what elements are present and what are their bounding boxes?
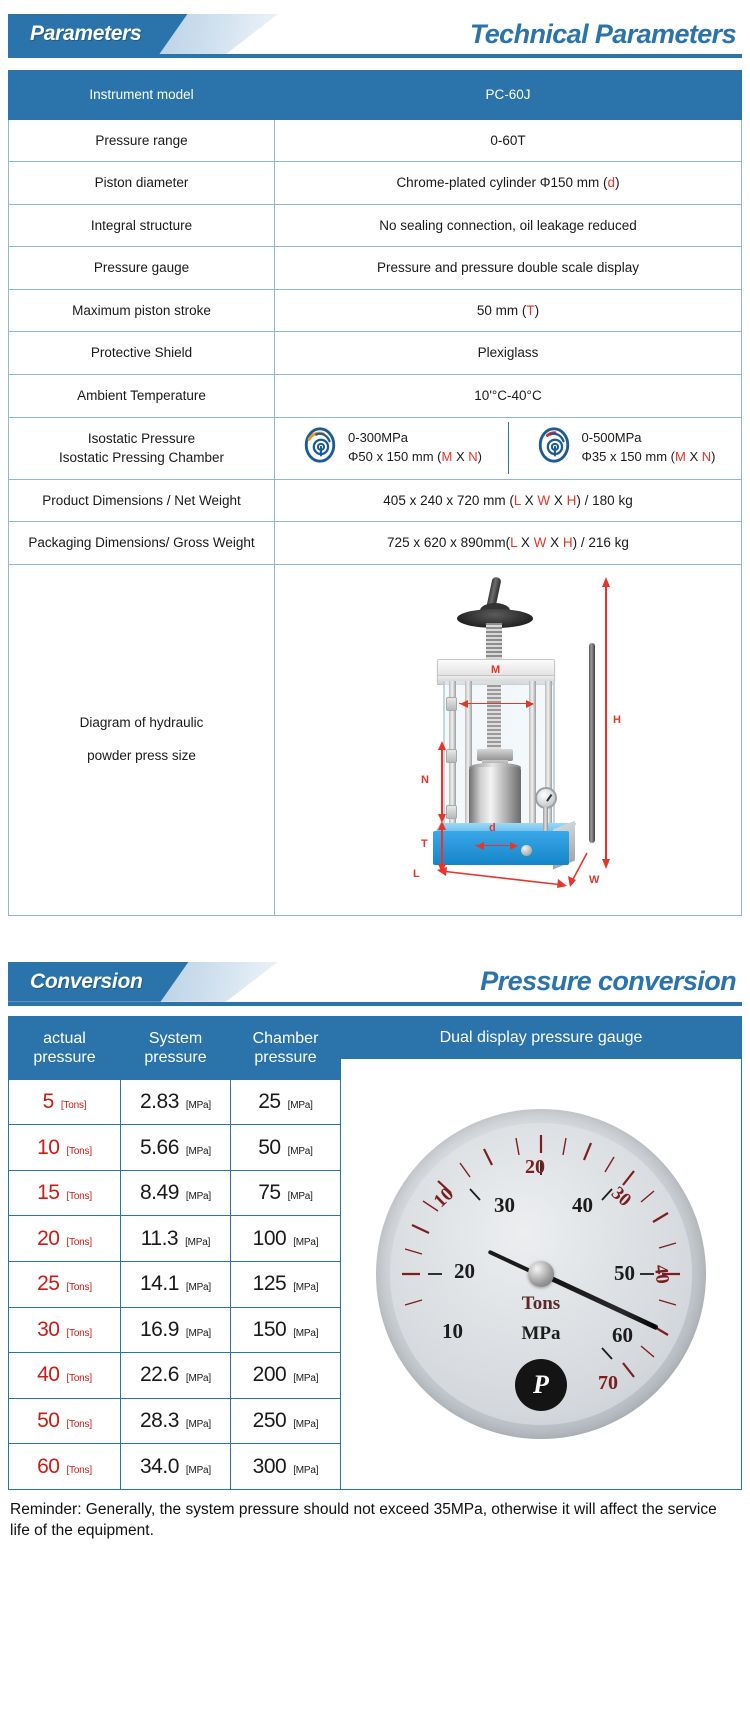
- isostatic-300-dim-m: M: [441, 449, 452, 464]
- spec-value-maximum-piston-stroke: 50 mm (T): [275, 289, 742, 332]
- gauge-mpa-50: 50: [614, 1261, 635, 1286]
- unit-mpa: [MPa]: [186, 1191, 211, 1202]
- cell-actual-pressure: 50[Tons]: [9, 1398, 121, 1444]
- unit-mpa: [MPa]: [293, 1465, 318, 1476]
- cell-chamber-pressure: 125[MPa]: [231, 1262, 341, 1308]
- value-chamber-pressure: 300: [253, 1455, 287, 1479]
- press-pressure-gauge: [535, 787, 557, 809]
- unit-tons: [Tons]: [66, 1465, 91, 1476]
- product-dims-x2: X: [550, 493, 567, 508]
- isostatic-300-dims-post: ): [478, 449, 482, 464]
- table-row-diagram: Diagram of hydraulic powder press size: [9, 564, 742, 915]
- spec-sheet-page: Parameters Technical Parameters Instrume…: [0, 14, 750, 1556]
- cell-chamber-pressure: 75[MPa]: [231, 1170, 341, 1216]
- isostatic-option-300mpa: 0-300MPa Φ50 x 150 mm (M X N): [275, 422, 508, 474]
- column-header-dual-display-gauge: Dual display pressure gauge: [341, 1017, 741, 1059]
- value-system-pressure: 16.9: [140, 1318, 179, 1342]
- spec-value-pressure-range: 0-60T: [275, 119, 742, 162]
- value-actual-pressure: 30: [37, 1318, 59, 1342]
- gauge-tons-20: 20: [525, 1155, 545, 1179]
- stroke-text-end: ): [535, 303, 540, 318]
- table-row-ambient-temperature: Ambient Temperature 10'°C-40°C: [9, 374, 742, 417]
- value-system-pressure: 14.1: [140, 1272, 179, 1296]
- cell-chamber-pressure: 300[MPa]: [231, 1444, 341, 1490]
- hydraulic-press-illustration: M: [403, 573, 613, 909]
- cell-system-pressure: 16.9[MPa]: [121, 1307, 231, 1353]
- hydraulic-press-diagram: M: [275, 565, 741, 915]
- diagram-label-line1: Diagram of hydraulic: [15, 707, 268, 739]
- isostatic-500-dim-m: M: [675, 449, 686, 464]
- cell-system-pressure: 2.83[MPa]: [121, 1079, 231, 1125]
- spec-label-instrument-model: Instrument model: [9, 71, 275, 120]
- cell-actual-pressure: 30[Tons]: [9, 1307, 121, 1353]
- unit-mpa: [MPa]: [186, 1146, 211, 1157]
- unit-mpa: [MPa]: [186, 1373, 211, 1384]
- packaging-dim-w: W: [534, 535, 547, 550]
- spec-value-ambient-temperature: 10'°C-40°C: [275, 374, 742, 417]
- packaging-dim-h: H: [563, 535, 573, 550]
- technical-parameters-table: Instrument model PC-60J Pressure range 0…: [8, 70, 742, 916]
- conversion-banner-title: Pressure conversion: [480, 962, 736, 1002]
- value-chamber-pressure: 100: [253, 1227, 287, 1251]
- cell-actual-pressure: 40[Tons]: [9, 1353, 121, 1399]
- value-actual-pressure: 20: [37, 1227, 59, 1251]
- diagram-label-line2: powder press size: [15, 740, 268, 772]
- conversion-table-header-row: actual pressure System pressure Chamber …: [9, 1016, 742, 1079]
- spec-label-diagram: Diagram of hydraulic powder press size: [9, 564, 275, 915]
- piston-diameter-symbol: d: [608, 175, 616, 190]
- column-header-system-pressure-label: System pressure: [144, 1030, 206, 1066]
- isostatic-300-dim-n: N: [468, 449, 477, 464]
- dual-display-gauge-cell: Dual display pressure gauge: [341, 1016, 742, 1489]
- spec-value-pressure-gauge: Pressure and pressure double scale displ…: [275, 247, 742, 290]
- dimension-label-n: N: [421, 773, 429, 789]
- unit-mpa: [MPa]: [186, 1465, 211, 1476]
- isostatic-300-dims-mid: X: [452, 449, 468, 464]
- gauge-mpa-10: 10: [442, 1319, 463, 1344]
- press-gauge-stem: [543, 807, 548, 831]
- unit-tons: [Tons]: [66, 1237, 91, 1248]
- conversion-banner-tag: Conversion: [8, 962, 189, 1002]
- spec-value-packaging-dimensions: 725 x 620 x 890mm(L X W X H) / 216 kg: [275, 522, 742, 565]
- cell-actual-pressure: 15[Tons]: [9, 1170, 121, 1216]
- value-system-pressure: 2.83: [140, 1090, 179, 1114]
- unit-mpa: [MPa]: [293, 1419, 318, 1430]
- value-actual-pressure: 10: [37, 1136, 59, 1160]
- value-system-pressure: 22.6: [140, 1363, 179, 1387]
- value-system-pressure: 34.0: [140, 1455, 179, 1479]
- value-system-pressure: 28.3: [140, 1409, 179, 1433]
- value-system-pressure: 5.66: [140, 1136, 179, 1160]
- packaging-dims-post: ) / 216 kg: [573, 535, 629, 550]
- isostatic-500-dims-post: ): [711, 449, 715, 464]
- table-row-pressure-range: Pressure range 0-60T: [9, 119, 742, 162]
- parameters-banner-title: Technical Parameters: [470, 14, 736, 54]
- column-header-actual-pressure: actual pressure: [9, 1016, 121, 1079]
- cell-actual-pressure: 20[Tons]: [9, 1216, 121, 1262]
- isostatic-label-line2: Isostatic Pressing Chamber: [15, 448, 268, 468]
- gauge-tons-40: 40: [648, 1264, 673, 1285]
- parameters-banner: Parameters Technical Parameters: [8, 14, 742, 58]
- gauge-mpa-40: 40: [572, 1193, 593, 1218]
- cell-system-pressure: 5.66[MPa]: [121, 1125, 231, 1171]
- value-system-pressure: 8.49: [140, 1181, 179, 1205]
- product-dim-w: W: [537, 493, 550, 508]
- table-row-maximum-piston-stroke: Maximum piston stroke 50 mm (T): [9, 289, 742, 332]
- value-actual-pressure: 15: [37, 1181, 59, 1205]
- reminder-note: Reminder: Generally, the system pressure…: [10, 1500, 740, 1542]
- unit-tons: [Tons]: [61, 1100, 86, 1111]
- isostatic-300-range: 0-300MPa: [348, 430, 408, 445]
- packaging-dims-x2: X: [546, 535, 563, 550]
- cell-actual-pressure: 25[Tons]: [9, 1262, 121, 1308]
- table-row-protective-shield: Protective Shield Plexiglass: [9, 332, 742, 375]
- spec-value-protective-shield: Plexiglass: [275, 332, 742, 375]
- gauge-needle-hub: [528, 1261, 554, 1287]
- press-vertical-rod: [589, 643, 595, 843]
- conversion-banner-tag-label: Conversion: [30, 970, 143, 994]
- spec-value-product-dimensions: 405 x 240 x 720 mm (L X W X H) / 180 kg: [275, 479, 742, 522]
- gauge-scale-label-mpa: MPa: [521, 1323, 560, 1346]
- unit-mpa: [MPa]: [293, 1373, 318, 1384]
- spec-value-piston-diameter: Chrome-plated cylinder Φ150 mm (d): [275, 162, 742, 205]
- cell-system-pressure: 22.6[MPa]: [121, 1353, 231, 1399]
- value-chamber-pressure: 125: [253, 1272, 287, 1296]
- dimension-arrow-h-heads: [598, 575, 614, 871]
- cell-chamber-pressure: 250[MPa]: [231, 1398, 341, 1444]
- isostatic-500-dims-mid: X: [686, 449, 702, 464]
- cell-actual-pressure: 60[Tons]: [9, 1444, 121, 1490]
- column-header-chamber-pressure: Chamber pressure: [231, 1016, 341, 1079]
- spec-value-instrument-model: PC-60J: [275, 71, 742, 120]
- press-screw-lower: [487, 683, 501, 755]
- value-actual-pressure: 40: [37, 1363, 59, 1387]
- isostatic-300-dims-pre: Φ50 x 150 mm (: [348, 449, 441, 464]
- spec-value-diagram: M: [275, 564, 742, 915]
- press-screw-upper: [486, 623, 502, 661]
- gauge-brand-logo: P: [515, 1359, 567, 1411]
- cell-system-pressure: 28.3[MPa]: [121, 1398, 231, 1444]
- product-dims-pre: 405 x 240 x 720 mm (: [383, 493, 514, 508]
- dual-display-pressure-gauge-image: 20 30 40 10 30 40 20 10 50 60 70: [341, 1059, 741, 1489]
- value-chamber-pressure: 200: [253, 1363, 287, 1387]
- cell-chamber-pressure: 200[MPa]: [231, 1353, 341, 1399]
- table-row-pressure-gauge: Pressure gauge Pressure and pressure dou…: [9, 247, 742, 290]
- piston-diameter-text-end: ): [615, 175, 620, 190]
- value-actual-pressure: 50: [37, 1409, 59, 1433]
- isostatic-500-dim-n: N: [702, 449, 711, 464]
- unit-tons: [Tons]: [66, 1191, 91, 1202]
- packaging-dims-x1: X: [517, 535, 534, 550]
- value-system-pressure: 11.3: [141, 1227, 178, 1251]
- pressure-gauge-icon: [535, 426, 573, 470]
- cell-actual-pressure: 5[Tons]: [9, 1079, 121, 1125]
- isostatic-label-line1: Isostatic Pressure: [15, 429, 268, 449]
- unit-mpa: [MPa]: [288, 1100, 313, 1111]
- gauge-dial: 20 30 40 10 30 40 20 10 50 60 70: [376, 1109, 706, 1439]
- value-chamber-pressure: 250: [253, 1409, 287, 1433]
- unit-mpa: [MPa]: [293, 1282, 318, 1293]
- dimension-label-t: T: [421, 837, 428, 853]
- isostatic-500-range: 0-500MPa: [582, 430, 642, 445]
- pressure-gauge-icon: [301, 426, 339, 470]
- isostatic-500-dims-pre: Φ35 x 150 mm (: [582, 449, 675, 464]
- value-actual-pressure: 25: [37, 1272, 59, 1296]
- dimension-label-d: d: [489, 821, 496, 837]
- product-dims-post: ) / 180 kg: [576, 493, 632, 508]
- unit-mpa: [MPa]: [186, 1100, 211, 1111]
- product-dims-x1: X: [521, 493, 538, 508]
- spec-label-isostatic-pressure: Isostatic Pressure Isostatic Pressing Ch…: [9, 417, 275, 479]
- cell-chamber-pressure: 100[MPa]: [231, 1216, 341, 1262]
- packaging-dims-pre: 725 x 620 x 890mm(: [387, 535, 510, 550]
- spec-label-piston-diameter: Piston diameter: [9, 162, 275, 205]
- dimension-label-m: M: [491, 663, 500, 679]
- cell-system-pressure: 34.0[MPa]: [121, 1444, 231, 1490]
- stroke-symbol: T: [526, 303, 534, 318]
- unit-mpa: [MPa]: [185, 1237, 210, 1248]
- column-header-actual-pressure-label: actual pressure: [33, 1030, 95, 1066]
- unit-mpa: [MPa]: [186, 1282, 211, 1293]
- table-row-product-dimensions: Product Dimensions / Net Weight 405 x 24…: [9, 479, 742, 522]
- cell-chamber-pressure: 150[MPa]: [231, 1307, 341, 1353]
- value-chamber-pressure: 50: [258, 1136, 280, 1160]
- product-dim-l: L: [514, 493, 521, 508]
- value-chamber-pressure: 25: [258, 1090, 280, 1114]
- parameters-banner-tag: Parameters: [8, 14, 187, 54]
- product-dim-h: H: [567, 493, 577, 508]
- gauge-brand-letter: P: [533, 1369, 549, 1400]
- cell-actual-pressure: 10[Tons]: [9, 1125, 121, 1171]
- spec-label-product-dimensions: Product Dimensions / Net Weight: [9, 479, 275, 522]
- spec-label-packaging-dimensions: Packaging Dimensions/ Gross Weight: [9, 522, 275, 565]
- value-chamber-pressure: 150: [253, 1318, 287, 1342]
- gauge-mpa-60: 60: [612, 1323, 633, 1348]
- gauge-scale-label-tons: Tons: [522, 1293, 560, 1316]
- value-chamber-pressure: 75: [258, 1181, 280, 1205]
- value-actual-pressure: 60: [37, 1455, 59, 1479]
- spec-label-pressure-range: Pressure range: [9, 119, 275, 162]
- spec-label-pressure-gauge: Pressure gauge: [9, 247, 275, 290]
- isostatic-option-500mpa: 0-500MPa Φ35 x 150 mm (M X N): [508, 422, 741, 474]
- unit-tons: [Tons]: [66, 1419, 91, 1430]
- gauge-tons-70: 70: [598, 1371, 618, 1395]
- unit-tons: [Tons]: [66, 1146, 91, 1157]
- unit-mpa: [MPa]: [288, 1146, 313, 1157]
- cell-system-pressure: 14.1[MPa]: [121, 1262, 231, 1308]
- dimension-label-h: H: [613, 713, 621, 729]
- piston-diameter-text: Chrome-plated cylinder Φ150 mm (: [396, 175, 607, 190]
- table-row-instrument-model: Instrument model PC-60J: [9, 71, 742, 120]
- table-row-packaging-dimensions: Packaging Dimensions/ Gross Weight 725 x…: [9, 522, 742, 565]
- stroke-text: 50 mm (: [477, 303, 527, 318]
- pressure-conversion-table: actual pressure System pressure Chamber …: [8, 1016, 742, 1490]
- unit-mpa: [MPa]: [186, 1419, 211, 1430]
- unit-mpa: [MPa]: [293, 1237, 318, 1248]
- table-row-isostatic-pressure: Isostatic Pressure Isostatic Pressing Ch…: [9, 417, 742, 479]
- spec-value-integral-structure: No sealing connection, oil leakage reduc…: [275, 204, 742, 247]
- cell-chamber-pressure: 50[MPa]: [231, 1125, 341, 1171]
- dimension-arrow-d-heads: [467, 838, 527, 854]
- parameters-banner-tag-label: Parameters: [30, 22, 141, 46]
- spec-label-integral-structure: Integral structure: [9, 204, 275, 247]
- table-row-piston-diameter: Piston diameter Chrome-plated cylinder Φ…: [9, 162, 742, 205]
- isostatic-option-500mpa-text: 0-500MPa Φ35 x 150 mm (M X N): [582, 429, 716, 467]
- dimension-arrow-n-heads: [434, 739, 450, 825]
- cell-chamber-pressure: 25[MPa]: [231, 1079, 341, 1125]
- isostatic-option-300mpa-text: 0-300MPa Φ50 x 150 mm (M X N): [348, 429, 482, 467]
- dimension-label-w: W: [589, 873, 599, 889]
- unit-tons: [Tons]: [66, 1282, 91, 1293]
- gauge-mpa-20: 20: [454, 1259, 475, 1284]
- unit-tons: [Tons]: [66, 1373, 91, 1384]
- table-row-integral-structure: Integral structure No sealing connection…: [9, 204, 742, 247]
- value-actual-pressure: 5: [43, 1090, 54, 1114]
- spec-label-ambient-temperature: Ambient Temperature: [9, 374, 275, 417]
- dimension-arrow-m-heads: [451, 696, 543, 712]
- column-header-chamber-pressure-label: Chamber pressure: [253, 1030, 319, 1066]
- cell-system-pressure: 8.49[MPa]: [121, 1170, 231, 1216]
- column-header-system-pressure: System pressure: [121, 1016, 231, 1079]
- dimension-label-l: L: [413, 867, 420, 883]
- spec-label-maximum-piston-stroke: Maximum piston stroke: [9, 289, 275, 332]
- unit-tons: [Tons]: [66, 1328, 91, 1339]
- dimension-arrow-l: [427, 865, 577, 891]
- spec-value-isostatic-pressure: 0-300MPa Φ50 x 150 mm (M X N): [275, 417, 742, 479]
- unit-mpa: [MPa]: [186, 1328, 211, 1339]
- spec-label-protective-shield: Protective Shield: [9, 332, 275, 375]
- conversion-banner: Conversion Pressure conversion: [8, 962, 742, 1006]
- gauge-mpa-30: 30: [494, 1193, 515, 1218]
- unit-mpa: [MPa]: [288, 1191, 313, 1202]
- cell-system-pressure: 11.3[MPa]: [121, 1216, 231, 1262]
- unit-mpa: [MPa]: [293, 1328, 318, 1339]
